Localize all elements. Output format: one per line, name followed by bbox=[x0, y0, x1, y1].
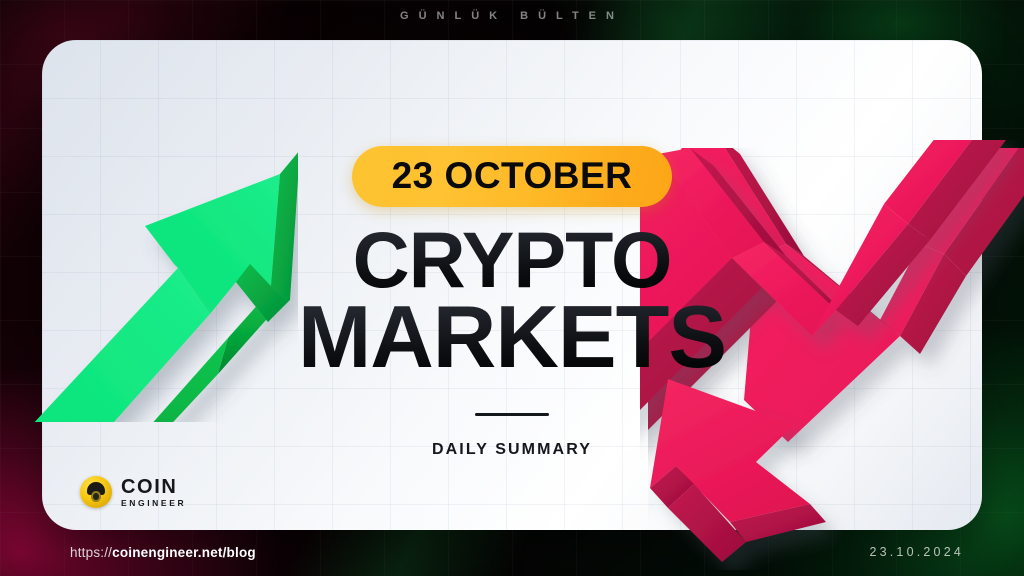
page-title: CRYPTO MARKETS bbox=[298, 221, 726, 381]
footer-url[interactable]: https://coinengineer.net/blog bbox=[70, 545, 256, 560]
subtitle-label: DAILY SUMMARY bbox=[432, 441, 592, 459]
logo-main-text: COIN bbox=[121, 477, 186, 497]
date-badge[interactable]: 23 OCTOBER bbox=[352, 146, 673, 207]
date-badge-label: 23 OCTOBER bbox=[392, 155, 633, 196]
red-arrow-head bbox=[650, 370, 880, 570]
logo-wordmark: COIN ENGINEER bbox=[121, 477, 186, 508]
coin-engineer-badge-icon bbox=[80, 476, 112, 508]
footer-url-host: coinengineer.net/blog bbox=[112, 545, 256, 560]
title-divider bbox=[475, 413, 549, 416]
newsletter-banner: GÜNLÜK BÜLTEN bbox=[0, 0, 1024, 576]
eyebrow-label: GÜNLÜK BÜLTEN bbox=[0, 10, 1024, 22]
title-line-2: MARKETS bbox=[298, 294, 726, 380]
footer-date: 23.10.2024 bbox=[869, 545, 964, 559]
logo-sub-text: ENGINEER bbox=[121, 499, 186, 508]
footer-url-protocol: https:// bbox=[70, 545, 112, 560]
brand-logo[interactable]: COIN ENGINEER bbox=[80, 476, 186, 508]
